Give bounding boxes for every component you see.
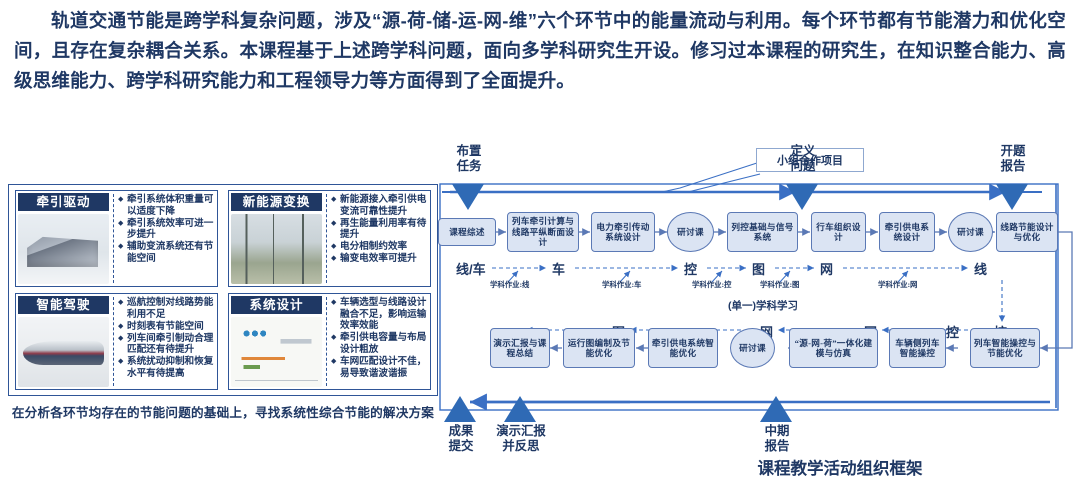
node-seminar-1[interactable]: 研讨课 — [667, 212, 714, 252]
milestone-midterm-report: 中期 报告 — [748, 424, 806, 453]
card-divider — [326, 297, 327, 386]
card-left-column: 牵引驱动 — [16, 191, 111, 286]
milestone-triangle — [760, 396, 792, 422]
node-traction-calc-alignment[interactable]: 列车牵引计算与线路平纵断面设计 — [507, 212, 579, 252]
system-architecture-diagram — [231, 317, 322, 387]
homework-label-network: 学科作业:网 — [878, 279, 917, 290]
intro-paragraph: 轨道交通节能是跨学科复杂问题，涉及“源-荷-储-运-网-维”六个环节中的能量流动… — [14, 6, 1066, 96]
milestone-triangle — [504, 396, 536, 422]
node-source-grid-load-modeling[interactable]: “源-网-荷”一体化建模与仿真 — [789, 328, 878, 368]
bullet-item: 再生能量利用率有待提升 — [331, 218, 427, 241]
bullet-item: 车辆选型与线路设计融合不足，影响运输效率效能 — [331, 297, 427, 332]
node-train-smart-driving-energy-saving[interactable]: 列车智能操控与节能优化 — [970, 328, 1040, 368]
bullet-item: 辅助变流系统还有节能空间 — [118, 241, 214, 264]
course-activity-framework-diagram: 小组合作项目 布置 任务 定义 问题 开题 报告 课程综述 列车牵引计算与线路平… — [430, 140, 1080, 485]
high-speed-train-photo — [18, 317, 109, 387]
bullet-item: 列车间牵引制动合理匹配还有待提升 — [118, 333, 214, 356]
card-divider — [326, 194, 327, 283]
chain-label-bottom-4: 控 — [946, 322, 959, 341]
bullet-item: 车网匹配设计不佳，易导致谐波谐振 — [331, 356, 427, 379]
milestone-deliverable-submit: 成果 提交 — [432, 424, 490, 453]
node-presentation-course-summary[interactable]: 演示汇报与课程总结 — [490, 328, 550, 368]
bullet-item: 牵引系统效率可进一步提升 — [118, 218, 214, 241]
card-left-column: 新能源变换 — [229, 191, 324, 286]
homework-label-diagram: 学科作业:图 — [760, 279, 799, 290]
card-title: 牵引驱动 — [18, 193, 109, 211]
bullet-item: 新能源接入牵引供电变流可靠性提升 — [331, 194, 427, 217]
milestone-triangle — [444, 396, 476, 422]
node-traction-power-supply-design[interactable]: 牵引供电系统设计 — [879, 212, 935, 252]
node-seminar-3[interactable]: 研讨课 — [730, 328, 775, 368]
milestone-define-problem: 定义 问题 — [774, 144, 832, 173]
chain-label-top-5: 网 — [820, 259, 833, 278]
diagram-caption: 课程教学活动组织框架 — [680, 455, 1000, 479]
milestone-assign-task: 布置 任务 — [440, 144, 498, 173]
slide-root: 轨道交通节能是跨学科复杂问题，涉及“源-荷-储-运-网-维”六个环节中的能量流动… — [0, 0, 1080, 485]
card-left-column: 系统设计 — [229, 294, 324, 389]
node-seminar-2[interactable]: 研讨课 — [948, 212, 993, 252]
issue-card-intelligent-driving: 智能驾驶 巡航控制对线路势能利用不足 时刻表有节能空间 列车间牵引制动合理匹配还… — [15, 293, 218, 390]
issue-card-new-energy-conversion: 新能源变换 新能源接入牵引供电变流可靠性提升 再生能量利用率有待提升 电分相制约… — [228, 190, 431, 287]
card-left-column: 智能驾驶 — [16, 294, 111, 389]
node-traffic-organization-design[interactable]: 行车组织设计 — [811, 212, 866, 252]
card-bullet-list: 车辆选型与线路设计融合不足，影响运输效率效能 牵引供电容量与布局设计粗放 车网匹… — [331, 294, 430, 389]
traction-transformer-photo — [18, 214, 109, 284]
milestone-presentation-reflect: 演示汇报 并反思 — [486, 424, 556, 453]
card-bullet-list: 新能源接入牵引供电变流可靠性提升 再生能量利用率有待提升 电分相制约效率 输变电… — [331, 191, 430, 286]
card-title: 新能源变换 — [231, 193, 322, 211]
issue-card-traction-drive: 牵引驱动 牵引系统体积重量可以适度下降 牵引系统效率可进一步提升 辅助变流系统还… — [15, 190, 218, 287]
node-line-energy-saving-design[interactable]: 线路节能设计与优化 — [996, 212, 1058, 252]
milestone-proposal-report: 开题 报告 — [984, 144, 1042, 173]
left-panel-caption: 在分析各环节均存在的节能问题的基础上，寻找系统性综合节能的解决方案 — [8, 402, 438, 421]
chain-label-top-2: 车 — [552, 259, 565, 278]
homework-label-line: 学科作业:线 — [490, 279, 529, 290]
single-discipline-stage-note: (单一)学科学习 — [728, 298, 798, 313]
node-vehicle-side-smart-driving[interactable]: 车辆侧列车智能操控 — [889, 328, 946, 368]
node-power-supply-smart-optimization[interactable]: 牵引供电系统智能优化 — [648, 328, 718, 368]
chain-label-top-1: 线/车 — [456, 259, 486, 278]
bullet-item: 牵引供电容量与布局设计粗放 — [331, 332, 427, 355]
node-electric-traction-drive-design[interactable]: 电力牵引传动系统设计 — [591, 212, 655, 252]
node-timetable-energy-optimization[interactable]: 运行图编制及节能优化 — [563, 328, 635, 368]
chain-label-top-6: 线 — [974, 259, 987, 278]
card-divider — [113, 297, 114, 386]
bullet-item: 电分相制约效率 — [331, 241, 427, 253]
bullet-item: 时刻表有节能空间 — [118, 321, 214, 333]
milestone-triangle — [786, 184, 818, 210]
milestone-triangle — [452, 184, 484, 210]
bullet-item: 巡航控制对线路势能利用不足 — [118, 297, 214, 320]
bullet-item: 输变电效率可提升 — [331, 253, 427, 265]
homework-label-control: 学科作业:控 — [692, 279, 731, 290]
energy-saving-issues-panel: 牵引驱动 牵引系统体积重量可以适度下降 牵引系统效率可进一步提升 辅助变流系统还… — [8, 184, 438, 396]
bullet-item: 系统扰动抑制和恢复水平有待提高 — [118, 356, 214, 379]
chain-label-top-4: 图 — [752, 259, 765, 278]
card-title: 系统设计 — [231, 296, 322, 314]
card-title: 智能驾驶 — [18, 296, 109, 314]
milestone-triangle — [996, 184, 1028, 210]
card-bullet-list: 巡航控制对线路势能利用不足 时刻表有节能空间 列车间牵引制动合理匹配还有待提升 … — [118, 294, 217, 389]
homework-label-vehicle: 学科作业:车 — [602, 279, 641, 290]
issue-card-system-design: 系统设计 车辆选型与线路设计融合不足，影响运输效率效能 牵引供电容量与布局设计粗… — [228, 293, 431, 390]
catenary-line-photo — [231, 214, 322, 284]
card-bullet-list: 牵引系统体积重量可以适度下降 牵引系统效率可进一步提升 辅助变流系统还有节能空间 — [118, 191, 217, 286]
chain-label-top-3: 控 — [684, 259, 697, 278]
issue-card-grid: 牵引驱动 牵引系统体积重量可以适度下降 牵引系统效率可进一步提升 辅助变流系统还… — [15, 190, 431, 390]
node-course-overview[interactable]: 课程综述 — [438, 218, 496, 246]
card-divider — [113, 194, 114, 283]
bullet-item: 牵引系统体积重量可以适度下降 — [118, 194, 214, 217]
node-train-control-signal-system[interactable]: 列控基础与信号系统 — [727, 212, 798, 252]
